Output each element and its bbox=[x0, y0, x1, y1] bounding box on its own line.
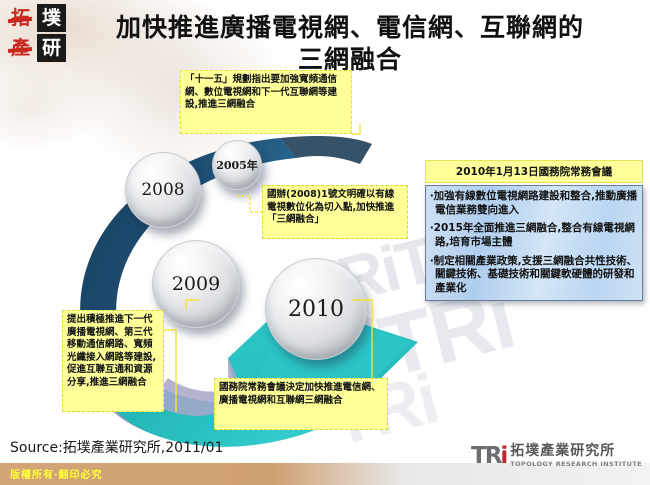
detail-bullet-3: ‧制定相關產業政策,支援三網融合共性技術、關鍵技術、基礎技術和關鍵軟硬體的研發和… bbox=[430, 255, 638, 296]
tri-brand-logo: TRi 拓墣產業研究所 TOPOLOGY RESEARCH INSTITUTE bbox=[471, 444, 642, 468]
detail-panel-body: ‧加強有線數位電視網路建設和整合,推動廣播電信業務雙向進入 ‧2015年全面推進… bbox=[425, 185, 643, 301]
brand-name-cn: 拓墣產業研究所 bbox=[510, 444, 615, 458]
brand-mark: TRi bbox=[471, 445, 506, 468]
detail-panel: 2010年1月13日國務院常務會議 ‧加強有線數位電視網路建設和整合,推動廣播電… bbox=[425, 160, 643, 301]
detail-panel-header: 2010年1月13日國務院常務會議 bbox=[425, 160, 643, 183]
detail-bullet-2: ‧2015年全面推進三網融合,整合有線電視網路,培育市場主體 bbox=[430, 222, 638, 249]
detail-bullet-1: ‧加強有線數位電視網路建設和整合,推動廣播電信業務雙向進入 bbox=[430, 190, 638, 217]
callout-2009: 提出積極推進下一代廣播電視網、第三代移動通信網路、寬頻光纖接入網路等建設,促進互… bbox=[62, 310, 164, 412]
copyright-notice: 版權所有‧翻印必究 bbox=[10, 466, 102, 481]
callout-2005: 「十一五」規劃指出要加強寬頻通信網、數位電視網和下一代互聯網等建設,推進三網融合 bbox=[180, 70, 352, 134]
brand-name-en: TOPOLOGY RESEARCH INSTITUTE bbox=[510, 460, 642, 468]
slide-canvas: TRiTRi TRiTRi TRi 拓 墣 產 研 加快推進廣播電視網、電信網、… bbox=[0, 0, 650, 485]
callout-2010: 國務院常務會議決定加快推進電信網、廣播電視網和互聯網三網融合 bbox=[214, 378, 388, 430]
callout-2008: 國辦(2008)1號文明確以有線電視數位化為切入點,加快推進 「三網融合」 bbox=[262, 185, 408, 239]
source-note: Source:拓墣產業研究所,2011/01 bbox=[10, 437, 223, 457]
